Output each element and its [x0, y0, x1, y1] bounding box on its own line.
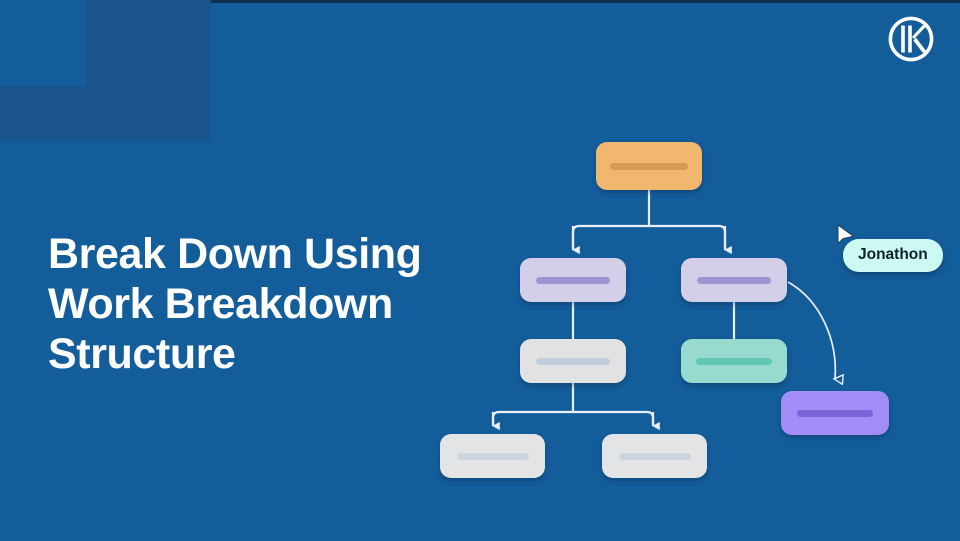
- collaborator-name-label[interactable]: Jonathon: [843, 239, 943, 272]
- wbs-curved-connector: [788, 282, 835, 379]
- wbs-node-label-bar: [457, 453, 529, 460]
- wbs-diagram: [0, 0, 960, 541]
- wbs-node-level1-a[interactable]: [520, 258, 626, 302]
- wbs-node-level2-a[interactable]: [520, 339, 626, 383]
- wbs-node-root[interactable]: [596, 142, 702, 190]
- wbs-node-level3-a[interactable]: [440, 434, 545, 478]
- wbs-node-label-bar: [536, 277, 610, 284]
- wbs-node-level3-b[interactable]: [602, 434, 707, 478]
- wbs-node-label-bar: [696, 358, 772, 365]
- wbs-node-label-bar: [797, 410, 873, 417]
- wbs-node-label-bar: [536, 358, 610, 365]
- wbs-node-label-bar: [697, 277, 771, 284]
- wbs-node-level2-b[interactable]: [681, 339, 787, 383]
- slide-canvas: Break Down Using Work Breakdown Structur…: [0, 0, 960, 541]
- wbs-node-aside[interactable]: [781, 391, 889, 435]
- wbs-node-level1-b[interactable]: [681, 258, 787, 302]
- wbs-node-label-bar: [610, 163, 688, 170]
- wbs-node-label-bar: [619, 453, 691, 460]
